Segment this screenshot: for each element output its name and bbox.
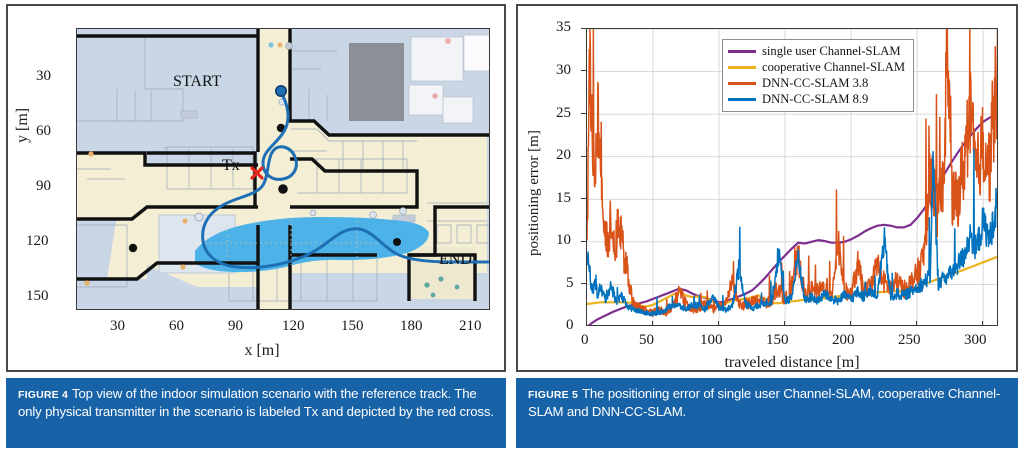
chart-y-tickmark-5 [581, 283, 586, 284]
map-y-tick-120: 120 [26, 233, 49, 250]
positioning-error-chart: single user Channel-SLAM cooperative Cha… [586, 28, 998, 326]
chart-x-tickmark-150 [784, 321, 785, 326]
legend-item-dnn-89: DNN-CC-SLAM 8.9 [728, 92, 905, 108]
indoor-scenario-map: START Tx END [76, 28, 490, 310]
legend-label-dnn-89: DNN-CC-SLAM 8.9 [762, 92, 868, 108]
chart-y-tickmark-30 [581, 70, 586, 71]
chart-y-tickmark-15 [581, 198, 586, 199]
legend-swatch-dnn-89 [728, 98, 756, 101]
figure-5-frame: positioning error [m] 35 30 25 20 15 10 … [516, 4, 1018, 372]
chart-x-axis-title: traveled distance [m] [724, 354, 859, 372]
figure-5-caption: FIGURE 5The positioning error of single … [516, 378, 1018, 448]
chart-y-tickmark-25 [581, 113, 586, 114]
map-svg [77, 29, 490, 310]
chart-x-tick-200: 200 [832, 332, 855, 349]
chart-x-tick-50: 50 [639, 332, 654, 349]
legend-label-single-user: single user Channel-SLAM [762, 44, 901, 60]
figure-4-caption-label: FIGURE 4 [18, 389, 68, 401]
map-y-tick-90: 90 [36, 178, 51, 195]
legend-item-dnn-38: DNN-CC-SLAM 3.8 [728, 76, 905, 92]
map-x-tick-180: 180 [400, 318, 423, 335]
chart-y-tickmark-10 [581, 241, 586, 242]
legend-swatch-dnn-38 [728, 82, 756, 85]
figure-5-caption-text: The positioning error of single user Cha… [528, 386, 1000, 419]
chart-x-tickmark-0 [586, 321, 587, 326]
map-x-tick-30: 30 [110, 318, 125, 335]
chart-y-tick-35: 35 [556, 19, 571, 36]
figure-5-caption-label: FIGURE 5 [528, 389, 578, 401]
map-y-tick-30: 30 [36, 68, 51, 85]
legend-item-single-user: single user Channel-SLAM [728, 44, 905, 60]
chart-x-tick-150: 150 [766, 332, 789, 349]
map-x-axis-title: x [m] [244, 342, 279, 360]
chart-x-tickmark-200 [850, 321, 851, 326]
figure-4-panel: y [m] 30 60 90 120 150 30 60 90 120 150 … [6, 4, 506, 448]
chart-y-tick-10: 10 [556, 232, 571, 249]
figure-5-panel: positioning error [m] 35 30 25 20 15 10 … [516, 4, 1018, 448]
legend-label-cooperative: cooperative Channel-SLAM [762, 60, 905, 76]
chart-x-tick-0: 0 [581, 332, 589, 349]
map-x-tick-120: 120 [282, 318, 305, 335]
map-y-tick-150: 150 [26, 288, 49, 305]
map-tx-label: Tx [222, 157, 240, 175]
map-y-axis-title: y [m] [14, 108, 32, 143]
map-start-label: START [173, 73, 221, 91]
legend-label-dnn-38: DNN-CC-SLAM 3.8 [762, 76, 868, 92]
chart-legend: single user Channel-SLAM cooperative Cha… [722, 39, 914, 112]
chart-x-tickmark-250 [916, 321, 917, 326]
chart-y-tick-20: 20 [556, 147, 571, 164]
legend-swatch-single-user [728, 50, 756, 53]
map-x-tick-210: 210 [459, 318, 482, 335]
figure-pair-page: y [m] 30 60 90 120 150 30 60 90 120 150 … [0, 0, 1024, 452]
legend-swatch-cooperative [728, 66, 756, 69]
chart-x-tick-250: 250 [898, 332, 921, 349]
figure-4-frame: y [m] 30 60 90 120 150 30 60 90 120 150 … [6, 4, 506, 372]
chart-y-tick-15: 15 [556, 190, 571, 207]
chart-y-axis-title: positioning error [m] [526, 130, 543, 256]
chart-x-tick-100: 100 [700, 332, 723, 349]
map-end-label: END [439, 251, 472, 269]
chart-y-tick-0: 0 [566, 317, 574, 334]
chart-x-tickmark-100 [718, 321, 719, 326]
map-x-tick-60: 60 [169, 318, 184, 335]
chart-y-tickmark-20 [581, 156, 586, 157]
chart-y-tick-5: 5 [566, 275, 574, 292]
figure-4-caption-text: Top view of the indoor simulation scenar… [18, 386, 494, 419]
start-point-marker [276, 86, 286, 96]
map-y-tick-60: 60 [36, 123, 51, 140]
map-x-tick-150: 150 [341, 318, 364, 335]
legend-item-cooperative: cooperative Channel-SLAM [728, 60, 905, 76]
chart-x-tickmark-300 [982, 321, 983, 326]
chart-x-tickmark-50 [652, 321, 653, 326]
chart-y-tick-30: 30 [556, 62, 571, 79]
map-x-tick-90: 90 [228, 318, 243, 335]
figure-4-caption: FIGURE 4Top view of the indoor simulatio… [6, 378, 506, 448]
chart-x-tick-300: 300 [964, 332, 987, 349]
chart-y-tick-25: 25 [556, 105, 571, 122]
map-grey-hall [349, 43, 404, 121]
chart-y-tickmark-35 [581, 28, 586, 29]
